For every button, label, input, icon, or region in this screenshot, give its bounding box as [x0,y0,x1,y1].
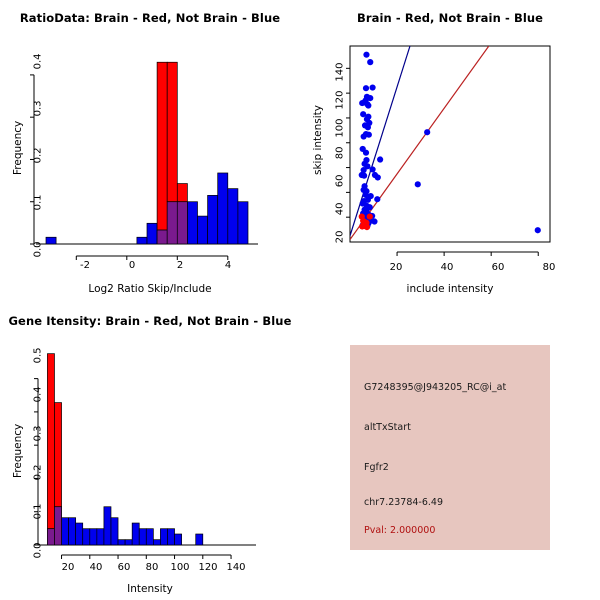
scatter-point-blue-54 [371,218,377,224]
scatter-point-blue-27 [369,166,375,172]
ratio-bar-blue-7 [198,216,208,244]
gene-bar-blue-13 [139,529,146,545]
ratio-bar-overlap-1 [167,202,177,244]
gene-bar-blue-6 [90,529,97,545]
scatter-point-blue-23 [377,156,383,162]
gene-bar-overlap-1 [54,507,61,545]
gene-bar-overlap-0 [47,529,54,545]
gene-bar-blue-5 [83,529,90,545]
gene-bar-blue-12 [132,523,139,545]
gene-bar-blue-18 [175,534,182,545]
scatter-point-blue-2 [363,85,369,91]
gene-info-box: G7248395@J943205_RC@i_at altTxStart Fgfr… [350,345,550,550]
scatter-point-blue-3 [369,84,375,90]
ratio-bar-blue-10 [228,189,238,244]
scatter-point-blue-21 [363,150,369,156]
ratio-bar-blue-6 [187,202,197,244]
scatter-line-not-brain-fit [350,46,410,236]
ratio-bar-blue-8 [208,195,218,244]
info-probe-id: G7248395@J943205_RC@i_at [364,382,506,393]
ratio-bar-blue-11 [238,202,248,244]
gene-bar-blue-19 [196,534,203,545]
gene-bar-blue-16 [160,529,167,545]
gene-bar-blue-8 [104,507,111,545]
info-locus: chr7.23784-6.49 [364,497,443,508]
gene-bar-blue-11 [125,540,132,545]
ratio-histogram-canvas [0,0,300,300]
scatter-point-blue-32 [415,181,421,187]
gene-bar-blue-10 [118,540,125,545]
scatter-point-blue-31 [375,174,381,180]
ratio-bar-red-1 [167,62,177,202]
gene-bar-blue-14 [146,529,153,545]
scatter-point-red-1 [367,213,373,219]
scatter-point-blue-7 [359,100,365,106]
gene-histogram-panel: Gene Itensity: Brain - Red, Not Brain - … [0,300,300,600]
scatter-point-blue-6 [367,95,373,101]
ratio-bar-overlap-0 [157,230,167,244]
info-gene-symbol: Fgfr2 [364,462,389,473]
gene-bar-blue-3 [69,518,76,545]
scatter-point-blue-18 [361,133,367,139]
gene-histogram-canvas [0,300,300,600]
gene-info-panel: G7248395@J943205_RC@i_at altTxStart Fgfr… [300,300,600,600]
scatter-point-blue-29 [361,173,367,179]
ratio-bar-red-2 [177,184,187,202]
ratio-bar-red-0 [157,62,167,230]
gene-bar-blue-17 [167,529,174,545]
scatter-frame [350,46,550,242]
gene-bar-blue-15 [153,540,160,545]
scatter-point-blue-9 [365,102,371,108]
scatter-point-blue-19 [424,129,430,135]
ratio-bar-blue-9 [218,173,228,244]
scatter-point-blue-15 [365,124,371,130]
gene-bar-blue-4 [76,523,83,545]
gene-bar-blue-9 [111,518,118,545]
ratio-histogram-panel: RatioData: Brain - Red, Not Brain - Blue… [0,0,300,300]
ratio-bar-overlap-2 [177,202,187,244]
scatter-point-blue-0 [363,52,369,58]
scatter-canvas [300,0,600,300]
gene-bar-red-1 [54,403,61,507]
scatter-point-blue-60 [535,227,541,233]
gene-bar-blue-2 [62,518,69,545]
scatter-point-red-9 [364,224,370,230]
scatter-point-blue-38 [374,196,380,202]
gene-bar-blue-7 [97,529,104,545]
info-event-type: altTxStart [364,422,411,433]
scatter-content [350,46,541,240]
scatter-point-blue-1 [367,59,373,65]
scatter-line-brain-fit [350,46,489,240]
ratio-bar-blue-2 [147,223,157,244]
ratio-bar-blue-1 [137,237,147,244]
info-pval: Pval: 2.000000 [364,525,435,536]
ratio-bar-blue-0 [46,237,56,244]
scatter-panel: Brain - Red, Not Brain - Blue skip inten… [300,0,600,300]
gene-bar-red-0 [47,354,54,529]
